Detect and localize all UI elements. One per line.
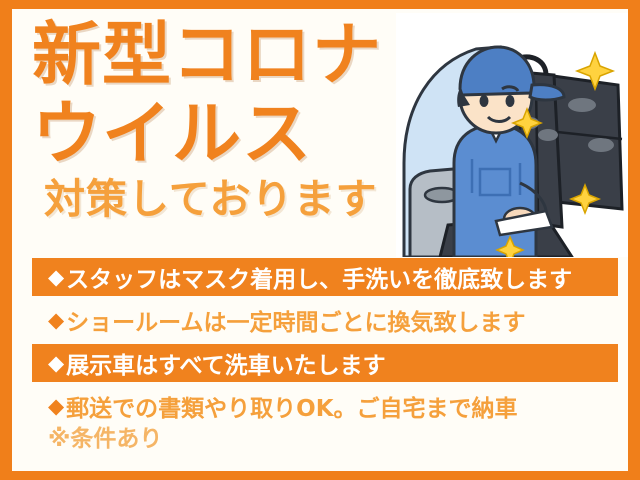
headline-line-1: 新型コロナ [32,21,496,90]
diamond-bullet-icon: ◆ [48,351,64,375]
condition-note: ※条件あり [32,425,618,454]
diamond-bullet-icon: ◆ [48,265,64,289]
diamond-bullet-icon: ◆ [48,308,64,332]
list-item: ◆ ショールームは一定時間ごとに換気致します [32,301,618,339]
list-item-label: 展示車はすべて洗車いたします [66,346,385,380]
list-item-label: スタッフはマスク着用し、手洗いを徹底致します [66,260,572,294]
list-item: ◆ 展示車はすべて洗車いたします [32,344,618,382]
headline-line-2: ウイルス [32,100,496,169]
headline-block: 新型コロナ ウイルス 対策しております [26,13,496,220]
list-item: ◆ スタッフはマスク着用し、手洗いを徹底致します [32,258,618,296]
headline-line-3: 対策しております [44,179,496,220]
list-item-label: ショールームは一定時間ごとに換気致します [66,303,525,337]
poster-frame: 新型コロナ ウイルス 対策しております ◆ スタッフはマスク着用し、手洗いを徹底… [0,0,640,480]
countermeasure-list: ◆ スタッフはマスク着用し、手洗いを徹底致します ◆ ショールームは一定時間ごと… [32,258,618,454]
list-item: ◆ 郵送での書類やり取りOK。ご自宅まで納車 [32,387,618,425]
list-item-label: 郵送での書類やり取りOK。ご自宅まで納車 [66,389,517,423]
poster-inner: 新型コロナ ウイルス 対策しております ◆ スタッフはマスク着用し、手洗いを徹底… [12,9,628,471]
diamond-bullet-icon: ◆ [48,394,64,418]
